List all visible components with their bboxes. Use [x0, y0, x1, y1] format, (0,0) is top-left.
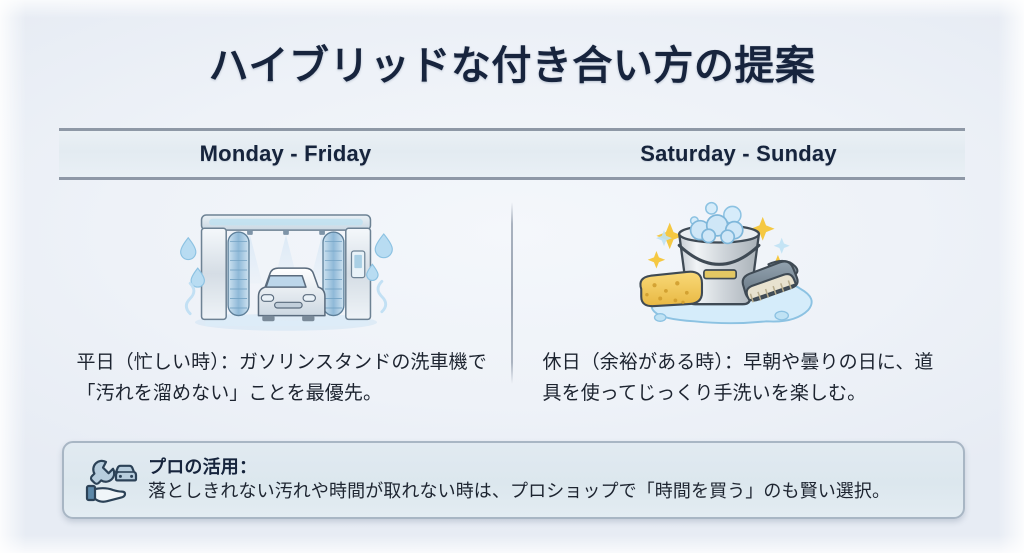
column-weekend-caption: 休日（余裕がある時）：早朝や曇りの日に、道具を使ってじっくり手洗いを楽しむ。	[543, 348, 953, 410]
column-header-band: Monday - Friday Saturday - Sunday	[59, 128, 965, 180]
pro-tip-text-group: プロの活用： 落としきれない汚れや時間が取れない時は、プロショップで「時間を買う…	[148, 455, 890, 505]
column-header-weekday: Monday - Friday	[59, 131, 512, 177]
hand-wash-bucket-illustration	[614, 196, 864, 336]
column-weekend: 休日（余裕がある時）：早朝や曇りの日に、道具を使ってじっくり手洗いを楽しむ。	[512, 190, 965, 410]
slide-root: ハイブリッドな付き合い方の提案 Monday - Friday Saturday…	[0, 0, 1024, 553]
column-header-weekend: Saturday - Sunday	[512, 131, 965, 177]
page-title: ハイブリッドな付き合い方の提案	[0, 33, 1024, 91]
pro-tip-callout: プロの活用： 落としきれない汚れや時間が取れない時は、プロショップで「時間を買う…	[62, 441, 965, 519]
pro-tip-body: 落としきれない汚れや時間が取れない時は、プロショップで「時間を買う」のも賢い選択…	[148, 479, 890, 505]
pro-tip-title: プロの活用：	[148, 455, 890, 479]
automatic-car-wash-illustration	[161, 196, 411, 336]
car-service-hand-icon	[82, 452, 138, 508]
column-weekday: 平日（忙しい時）：ガソリンスタンドの洗車機で「汚れを溜めない」ことを最優先。	[59, 190, 512, 410]
column-weekday-caption: 平日（忙しい時）：ガソリンスタンドの洗車機で「汚れを溜めない」ことを最優先。	[77, 348, 497, 410]
columns-container: 平日（忙しい時）：ガソリンスタンドの洗車機で「汚れを溜めない」ことを最優先。	[59, 190, 965, 410]
